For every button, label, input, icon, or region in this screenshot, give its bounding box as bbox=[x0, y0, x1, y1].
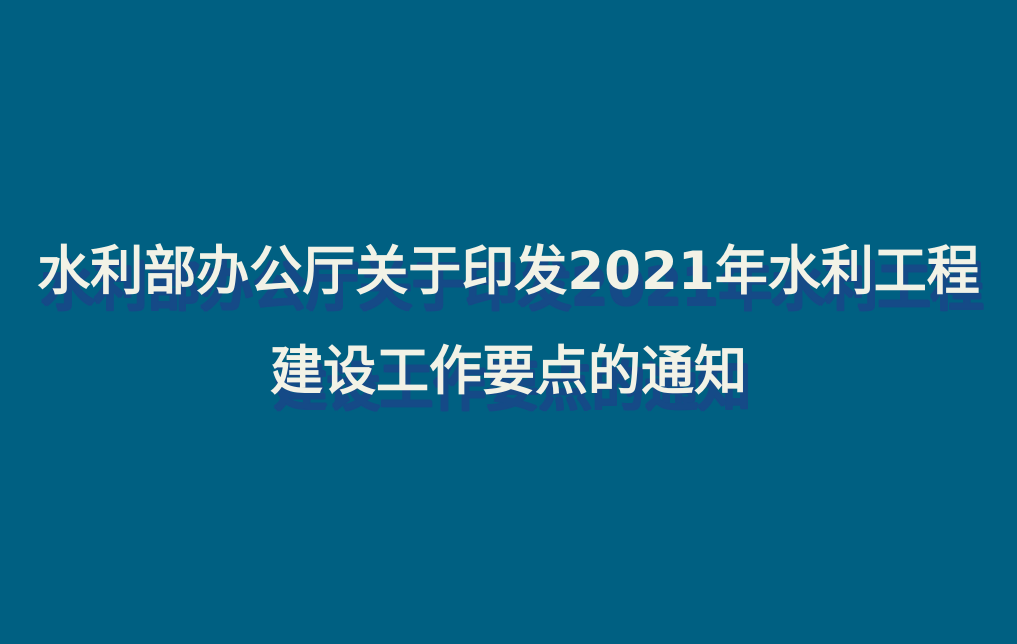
page-title: 水利部办公厅关于印发2021年水利工程 建设工作要点的通知 bbox=[0, 0, 1017, 644]
title-card: 水利部办公厅关于印发2021年水利工程 建设工作要点的通知 bbox=[0, 0, 1017, 644]
page-title-line-1: 水利部办公厅关于印发2021年水利工程 bbox=[0, 222, 1017, 322]
page-title-line-2: 建设工作要点的通知 bbox=[0, 322, 1017, 422]
